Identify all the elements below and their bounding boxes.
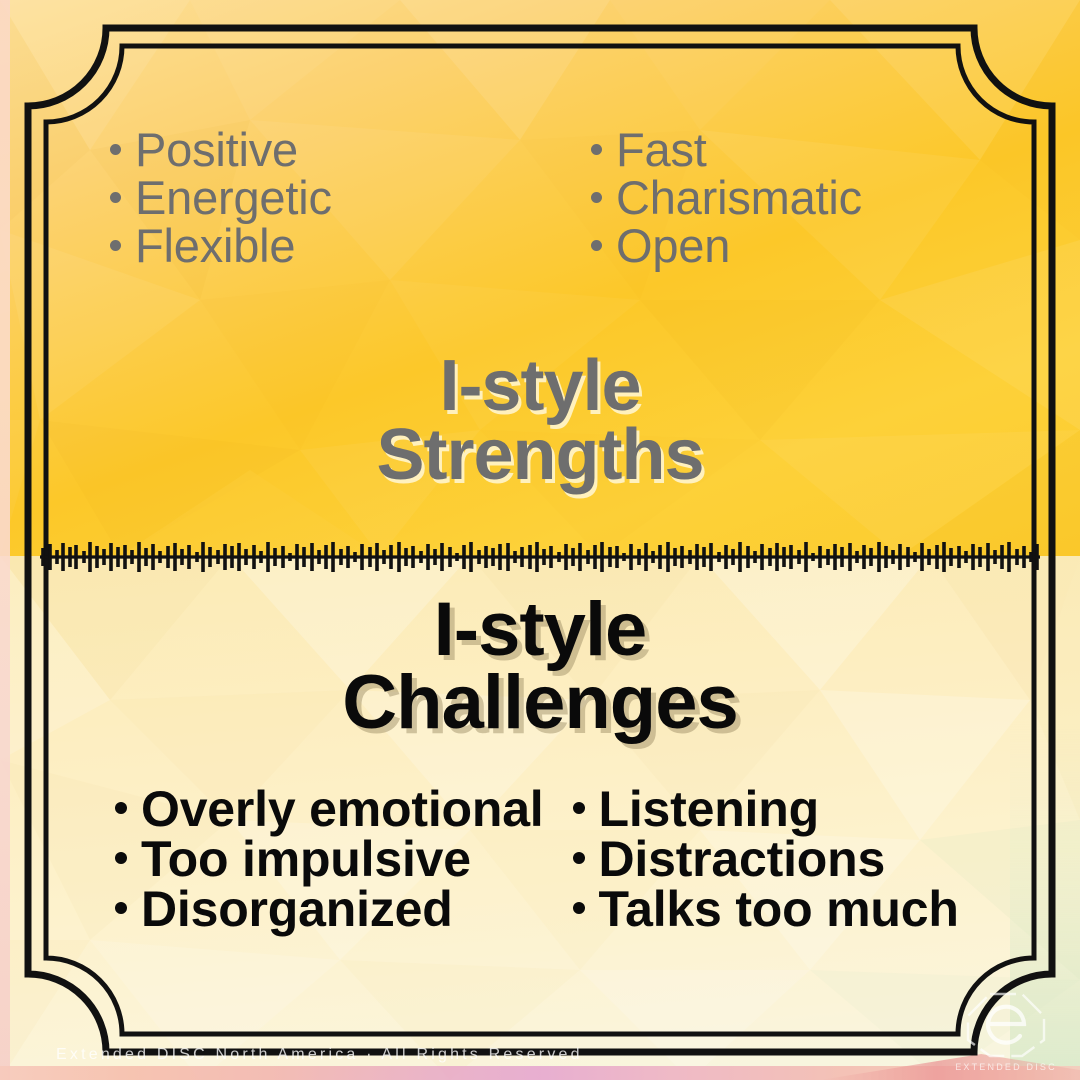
strengths-heading-line2: Strengths bbox=[0, 421, 1080, 490]
list-item: Disorganized bbox=[115, 884, 563, 934]
challenges-heading-line1: I-style bbox=[0, 594, 1080, 667]
list-item-label: Positive bbox=[135, 126, 298, 174]
poster-canvas: Positive Energetic Flexible Fast Charism… bbox=[0, 0, 1080, 1080]
octagon-e-icon bbox=[946, 988, 1066, 1060]
bullet-dot-icon bbox=[591, 144, 602, 155]
list-item: Open bbox=[591, 222, 1020, 270]
list-item-label: Too impulsive bbox=[141, 834, 471, 884]
logo-wordmark: EXTENDED DISC bbox=[946, 1062, 1066, 1072]
list-item-label: Talks too much bbox=[599, 884, 959, 934]
list-item: Listening bbox=[573, 784, 1021, 834]
strengths-heading-line1: I-style bbox=[0, 352, 1080, 421]
challenges-column-right: Listening Distractions Talks too much bbox=[563, 784, 1021, 934]
list-item: Overly emotional bbox=[115, 784, 563, 834]
list-item-label: Listening bbox=[599, 784, 819, 834]
bullet-dot-icon bbox=[115, 902, 127, 914]
strengths-heading: I-style Strengths bbox=[0, 352, 1080, 490]
list-item: Fast bbox=[591, 126, 1020, 174]
bullet-dot-icon bbox=[110, 192, 121, 203]
challenges-column-left: Overly emotional Too impulsive Disorgani… bbox=[60, 784, 563, 934]
bullet-dot-icon bbox=[110, 144, 121, 155]
bullet-dot-icon bbox=[591, 240, 602, 251]
bullet-dot-icon bbox=[115, 802, 127, 814]
logo-letter-e bbox=[988, 1007, 1024, 1043]
bullet-dot-icon bbox=[573, 802, 585, 814]
extended-disc-logo: EXTENDED DISC bbox=[946, 988, 1066, 1074]
list-item: Too impulsive bbox=[115, 834, 563, 884]
list-item-label: Fast bbox=[616, 126, 707, 174]
copyright-footer: Extended DISC North America · All Rights… bbox=[56, 1046, 583, 1064]
strengths-lists: Positive Energetic Flexible Fast Charism… bbox=[60, 126, 1020, 270]
list-item-label: Overly emotional bbox=[141, 784, 544, 834]
list-item-label: Disorganized bbox=[141, 884, 453, 934]
edge-tint-left bbox=[0, 0, 10, 1080]
bullet-dot-icon bbox=[573, 902, 585, 914]
bullet-dot-icon bbox=[573, 852, 585, 864]
list-item: Positive bbox=[110, 126, 539, 174]
list-item-label: Distractions bbox=[599, 834, 886, 884]
list-item: Distractions bbox=[573, 834, 1021, 884]
bullet-dot-icon bbox=[591, 192, 602, 203]
challenges-lists: Overly emotional Too impulsive Disorgani… bbox=[60, 784, 1020, 934]
strengths-column-right: Fast Charismatic Open bbox=[539, 126, 1020, 270]
strengths-column-left: Positive Energetic Flexible bbox=[60, 126, 539, 270]
challenges-heading-line2: Challenges bbox=[0, 667, 1080, 740]
list-item-label: Energetic bbox=[135, 174, 332, 222]
list-item: Energetic bbox=[110, 174, 539, 222]
ruler-tick-divider bbox=[40, 534, 1040, 580]
list-item-label: Open bbox=[616, 222, 730, 270]
list-item-label: Flexible bbox=[135, 222, 295, 270]
list-item: Talks too much bbox=[573, 884, 1021, 934]
list-item: Charismatic bbox=[591, 174, 1020, 222]
bullet-dot-icon bbox=[110, 240, 121, 251]
bullet-dot-icon bbox=[115, 852, 127, 864]
list-item: Flexible bbox=[110, 222, 539, 270]
challenges-heading: I-style Challenges bbox=[0, 594, 1080, 740]
list-item-label: Charismatic bbox=[616, 174, 862, 222]
